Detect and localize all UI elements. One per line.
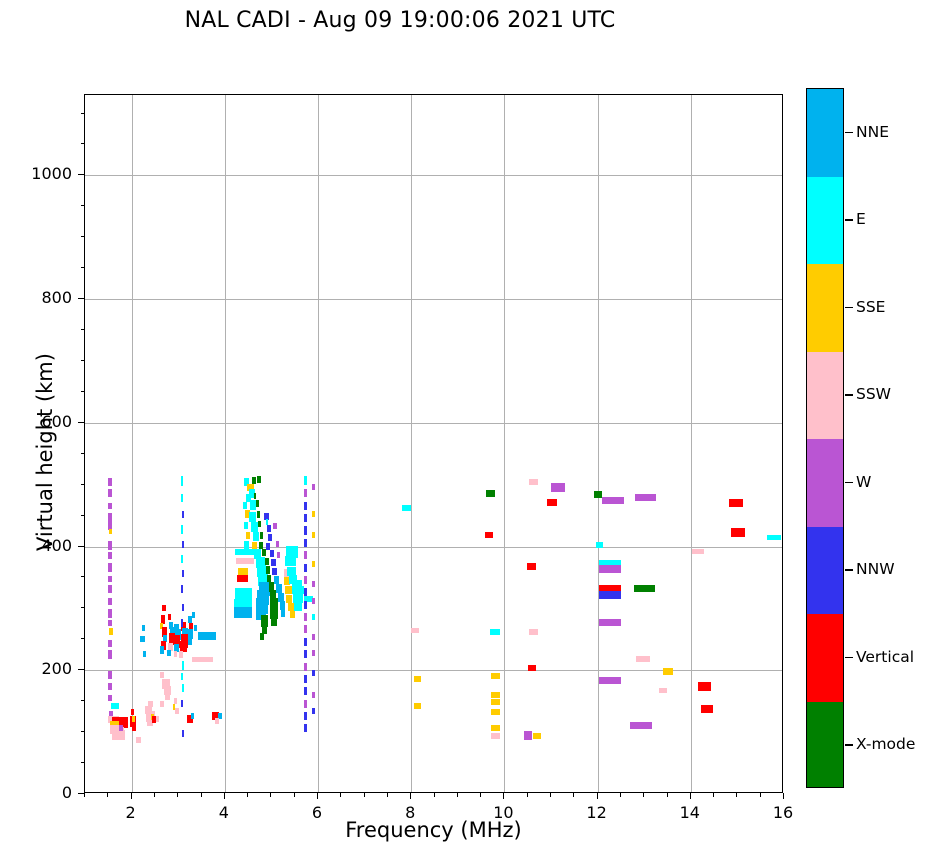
echo-mark: [528, 665, 536, 671]
y-axis-tick: [78, 422, 84, 423]
y-axis-tick: [78, 174, 84, 175]
echo-mark: [194, 625, 197, 631]
colorbar-segment-w: [807, 439, 843, 527]
echo-mark: [274, 576, 279, 584]
echo-mark: [243, 502, 247, 509]
echo-mark: [304, 675, 307, 683]
echo-mark: [108, 609, 112, 618]
echo-mark: [174, 651, 178, 657]
echo-mark: [198, 632, 217, 640]
echo-mark: [111, 703, 118, 709]
echo-mark: [156, 716, 159, 722]
colorbar-tick: [845, 394, 853, 395]
y-axis-tick: [81, 515, 85, 516]
ionogram-figure: NAL CADI - Aug 09 19:00:06 2021 UTC Virt…: [0, 0, 951, 856]
echo-mark: [594, 491, 602, 498]
x-axis-tick: [620, 793, 621, 797]
echo-mark: [304, 576, 307, 584]
echo-mark: [165, 693, 170, 700]
colorbar-tick-label-e: E: [856, 210, 866, 228]
x-axis-tick: [107, 793, 108, 797]
gridline-vertical: [225, 95, 226, 792]
echo-mark: [181, 525, 183, 534]
y-axis-label: Virtual height (km): [33, 172, 57, 732]
y-axis-tick: [78, 298, 84, 299]
echo-mark: [182, 541, 184, 548]
echo-mark: [181, 494, 183, 502]
echo-mark: [182, 661, 184, 670]
x-axis-tick: [177, 793, 178, 797]
x-axis-tick-label: 12: [567, 803, 627, 822]
echo-mark: [729, 499, 743, 507]
echo-mark: [599, 677, 620, 684]
echo-mark: [270, 550, 275, 557]
echo-mark: [304, 724, 307, 732]
echo-mark: [636, 656, 650, 662]
echo-mark: [491, 692, 499, 698]
echo-mark: [547, 499, 556, 506]
colorbar-tick-label-w: W: [856, 473, 871, 491]
echo-mark: [181, 555, 183, 563]
echo-mark: [181, 619, 183, 627]
echo-mark: [257, 511, 260, 518]
echo-mark: [312, 692, 314, 698]
x-axis-tick-label: 10: [473, 803, 533, 822]
colorbar-tick: [845, 569, 853, 570]
echo-mark: [312, 511, 314, 517]
echo-mark: [599, 591, 620, 599]
echo-mark: [312, 484, 314, 490]
echo-mark: [181, 585, 183, 593]
echo-mark: [304, 687, 307, 695]
echo-mark: [108, 503, 112, 509]
echo-mark: [108, 576, 112, 582]
echo-mark: [218, 713, 221, 719]
x-axis-tick: [527, 793, 528, 797]
echo-mark: [132, 724, 137, 731]
echo-mark: [108, 620, 112, 626]
echo-mark: [182, 570, 184, 577]
y-axis-tick: [81, 391, 85, 392]
echo-mark: [485, 532, 493, 538]
y-axis-tick: [81, 576, 85, 577]
echo-mark: [304, 601, 307, 609]
y-axis-tick: [81, 329, 85, 330]
echo-mark: [108, 541, 112, 550]
x-axis-tick: [317, 793, 318, 799]
echo-mark: [635, 494, 656, 501]
echo-mark: [108, 478, 112, 486]
echo-mark: [244, 522, 248, 529]
echo-mark: [767, 535, 781, 540]
echo-mark: [108, 695, 112, 701]
echo-mark: [312, 561, 314, 567]
colorbar-tick-label-nnw: NNW: [856, 560, 895, 578]
echo-mark: [304, 638, 307, 646]
colorbar-segment-sse: [807, 264, 843, 352]
y-axis-tick-label: 1000: [12, 164, 72, 183]
gridline-vertical: [598, 95, 599, 792]
echo-mark: [249, 512, 256, 522]
echo-mark: [663, 668, 673, 675]
x-axis-tick: [457, 793, 458, 797]
echo-mark: [260, 633, 264, 640]
echo-mark: [304, 514, 307, 522]
x-axis-tick-label: 4: [194, 803, 254, 822]
echo-mark: [692, 549, 704, 554]
echo-mark: [402, 505, 411, 511]
echo-mark: [131, 709, 135, 715]
echo-mark: [108, 671, 112, 679]
colorbar-tick: [845, 219, 853, 220]
colorbar-tick-label-x-mode: X-mode: [856, 735, 915, 753]
y-axis-tick: [81, 267, 85, 268]
echo-mark: [312, 650, 314, 656]
echo-mark: [160, 646, 164, 654]
echo-mark: [266, 566, 270, 574]
colorbar-tick-label-nne: NNE: [856, 123, 889, 141]
echo-mark: [630, 722, 651, 729]
echo-mark: [267, 525, 271, 532]
echo-mark: [312, 708, 314, 714]
echo-mark: [304, 613, 307, 621]
echo-mark: [236, 558, 254, 564]
y-axis-tick: [81, 607, 85, 608]
echo-mark: [271, 616, 277, 626]
echo-mark: [599, 619, 620, 626]
echo-mark: [252, 477, 256, 484]
echo-mark: [524, 731, 532, 740]
echo-mark: [294, 601, 302, 611]
echo-mark: [312, 532, 314, 538]
gridline-horizontal: [85, 670, 782, 671]
echo-mark: [281, 609, 286, 617]
x-axis-tick: [550, 793, 551, 797]
echo-mark: [258, 521, 261, 527]
echo-mark: [257, 476, 260, 483]
echo-mark: [234, 607, 252, 618]
y-axis-tick: [81, 484, 85, 485]
x-axis-tick: [84, 793, 85, 797]
echo-mark: [271, 559, 276, 566]
echo-mark: [731, 528, 745, 537]
x-axis-tick-label: 8: [380, 803, 440, 822]
echo-mark: [529, 479, 538, 485]
y-axis-tick: [81, 700, 85, 701]
echo-mark: [115, 734, 123, 740]
echo-mark: [596, 542, 603, 548]
gridline-horizontal: [85, 423, 782, 424]
gridline-vertical: [504, 95, 505, 792]
echo-mark: [491, 733, 499, 739]
echo-mark: [143, 651, 146, 657]
y-axis-tick: [81, 113, 85, 114]
x-axis-tick: [247, 793, 248, 797]
x-axis-tick: [270, 793, 271, 797]
echo-mark: [286, 595, 292, 603]
echo-mark: [182, 730, 184, 737]
x-axis-tick: [783, 793, 784, 799]
x-axis-tick: [364, 793, 365, 797]
x-axis-tick: [667, 793, 668, 797]
echo-mark: [312, 614, 314, 620]
echo-mark: [181, 476, 183, 486]
gridline-vertical: [691, 95, 692, 792]
echo-mark: [551, 483, 565, 492]
echo-mark: [290, 611, 295, 618]
echo-mark: [259, 542, 262, 549]
x-axis-tick: [294, 793, 295, 797]
echo-mark: [237, 575, 248, 582]
colorbar-segment-vertical: [807, 614, 843, 702]
echo-mark: [304, 663, 307, 671]
y-axis-tick: [78, 793, 84, 794]
echo-mark: [253, 532, 260, 541]
x-axis-tick: [643, 793, 644, 797]
echo-mark: [109, 628, 113, 635]
echo-mark: [276, 541, 279, 547]
echo-mark: [215, 718, 218, 724]
echo-mark: [602, 497, 623, 504]
colorbar-segment-nnw: [807, 527, 843, 615]
echo-mark: [312, 670, 314, 676]
plot-area: [84, 94, 783, 793]
x-axis-tick: [760, 793, 761, 797]
echo-mark: [262, 549, 266, 556]
echo-mark: [304, 489, 307, 497]
echo-mark: [312, 634, 314, 640]
echo-mark: [304, 712, 307, 720]
colorbar-tick-label-vertical: Vertical: [856, 648, 914, 666]
gridline-horizontal: [85, 299, 782, 300]
echo-mark: [698, 682, 711, 691]
colorbar-tick: [845, 307, 853, 308]
x-axis-tick: [434, 793, 435, 797]
echo-mark: [108, 489, 112, 497]
echo-mark: [278, 593, 284, 602]
y-axis-tick: [81, 236, 85, 237]
echo-mark: [140, 636, 145, 642]
y-axis-tick-label: 200: [12, 659, 72, 678]
echo-mark: [304, 700, 307, 708]
gridline-horizontal: [85, 175, 782, 176]
y-axis-tick-label: 600: [12, 412, 72, 431]
gridline-horizontal: [85, 547, 782, 548]
colorbar: [806, 88, 844, 788]
gridline-vertical: [318, 95, 319, 792]
colorbar-tick: [845, 482, 853, 483]
echo-mark: [304, 650, 307, 658]
echo-mark: [238, 568, 248, 575]
x-axis-tick: [713, 793, 714, 797]
echo-mark: [491, 725, 499, 731]
x-axis-tick: [480, 793, 481, 797]
echo-mark: [188, 636, 192, 645]
echo-mark: [109, 529, 112, 534]
x-axis-tick: [410, 793, 411, 799]
page-title: NAL CADI - Aug 09 19:00:06 2021 UTC: [0, 8, 800, 33]
echo-mark: [108, 563, 112, 572]
y-axis-tick: [81, 453, 85, 454]
echo-mark: [142, 625, 145, 631]
echo-mark: [304, 625, 307, 633]
echo-mark: [312, 581, 314, 587]
echo-mark: [304, 502, 307, 510]
colorbar-tick: [845, 744, 853, 745]
echo-mark: [191, 713, 194, 719]
echo-mark: [411, 628, 418, 633]
echo-mark: [285, 556, 295, 566]
echo-mark: [659, 688, 667, 693]
echo-mark: [304, 539, 307, 547]
echo-mark: [599, 565, 620, 573]
x-axis-tick: [503, 793, 504, 799]
echo-mark: [304, 551, 307, 559]
y-axis-tick: [78, 669, 84, 670]
echo-mark: [108, 585, 112, 593]
echo-mark: [235, 549, 256, 555]
echo-mark: [251, 522, 258, 532]
y-axis-tick: [81, 731, 85, 732]
echo-mark: [414, 703, 421, 709]
echo-mark: [491, 699, 499, 705]
echo-mark: [304, 526, 307, 535]
x-axis-tick: [690, 793, 691, 799]
echo-mark: [273, 523, 277, 529]
echo-mark: [304, 564, 307, 572]
echo-mark: [256, 500, 259, 507]
echo-mark: [246, 532, 250, 539]
echo-mark: [192, 612, 195, 618]
x-axis-tick: [573, 793, 574, 797]
echo-mark: [181, 700, 183, 707]
echo-mark: [272, 568, 277, 575]
echo-mark: [182, 604, 184, 611]
gridline-vertical: [411, 95, 412, 792]
y-axis-tick: [81, 762, 85, 763]
echo-mark: [162, 605, 165, 611]
x-axis-tick-label: 14: [660, 803, 720, 822]
x-axis-tick: [131, 793, 132, 799]
colorbar-segment-nne: [807, 89, 843, 177]
x-axis-tick: [340, 793, 341, 797]
echo-mark: [108, 513, 112, 523]
y-axis-tick: [81, 360, 85, 361]
echo-mark: [529, 629, 538, 635]
echo-mark: [260, 532, 263, 539]
x-axis-tick: [201, 793, 202, 797]
x-axis-tick-label: 6: [287, 803, 347, 822]
echo-mark: [254, 493, 257, 499]
echo-mark: [136, 737, 141, 743]
echo-mark: [701, 705, 713, 713]
echo-mark: [634, 585, 655, 592]
echo-mark: [181, 673, 183, 680]
colorbar-tick-label-sse: SSE: [856, 298, 885, 316]
echo-mark: [414, 676, 421, 682]
echo-mark: [108, 650, 112, 659]
y-axis-tick-label: 400: [12, 536, 72, 555]
echo-mark: [182, 684, 184, 692]
echo-mark: [108, 683, 112, 690]
colorbar-segment-x-mode: [807, 702, 843, 789]
colorbar-tick: [845, 657, 853, 658]
echo-mark: [179, 651, 183, 658]
echo-mark: [265, 558, 269, 565]
echo-mark: [491, 673, 499, 679]
echo-mark: [108, 598, 112, 605]
echo-mark: [175, 708, 179, 714]
colorbar-tick: [845, 132, 853, 133]
y-axis-tick: [78, 546, 84, 547]
x-axis-tick: [387, 793, 388, 797]
echo-mark: [108, 552, 112, 559]
y-axis-tick: [81, 205, 85, 206]
colorbar-segment-ssw: [807, 352, 843, 440]
echo-mark: [277, 552, 280, 558]
echo-mark: [490, 629, 499, 635]
echo-mark: [276, 584, 282, 593]
echo-mark: [160, 672, 165, 678]
y-axis-tick-label: 800: [12, 288, 72, 307]
x-axis-tick-label: 16: [753, 803, 813, 822]
echo-mark: [268, 534, 273, 541]
x-axis-tick: [224, 793, 225, 799]
echo-mark: [119, 725, 122, 731]
echo-mark: [491, 709, 499, 715]
echo-mark: [192, 657, 213, 662]
echo-mark: [287, 567, 295, 576]
colorbar-tick-label-ssw: SSW: [856, 385, 891, 403]
echo-mark: [132, 716, 135, 722]
x-axis-tick: [154, 793, 155, 797]
y-axis-tick: [81, 638, 85, 639]
echo-mark: [174, 698, 178, 704]
y-axis-tick-label: 0: [12, 783, 72, 802]
echo-mark: [312, 598, 314, 604]
echo-mark: [160, 701, 164, 707]
x-axis-tick: [597, 793, 598, 799]
x-axis-tick: [736, 793, 737, 797]
echo-mark: [148, 701, 153, 707]
echo-mark: [108, 640, 112, 647]
echo-mark: [266, 543, 270, 550]
gridline-vertical: [132, 95, 133, 792]
echo-mark: [168, 614, 171, 620]
echo-mark: [533, 733, 540, 739]
y-axis-tick: [81, 143, 85, 144]
echo-mark: [527, 563, 536, 570]
echo-mark: [167, 650, 171, 656]
colorbar-segment-e: [807, 177, 843, 265]
x-axis-tick-label: 2: [101, 803, 161, 822]
echo-mark: [182, 511, 184, 518]
echo-mark: [304, 476, 307, 485]
echo-mark: [486, 490, 495, 497]
echo-mark: [304, 588, 307, 596]
